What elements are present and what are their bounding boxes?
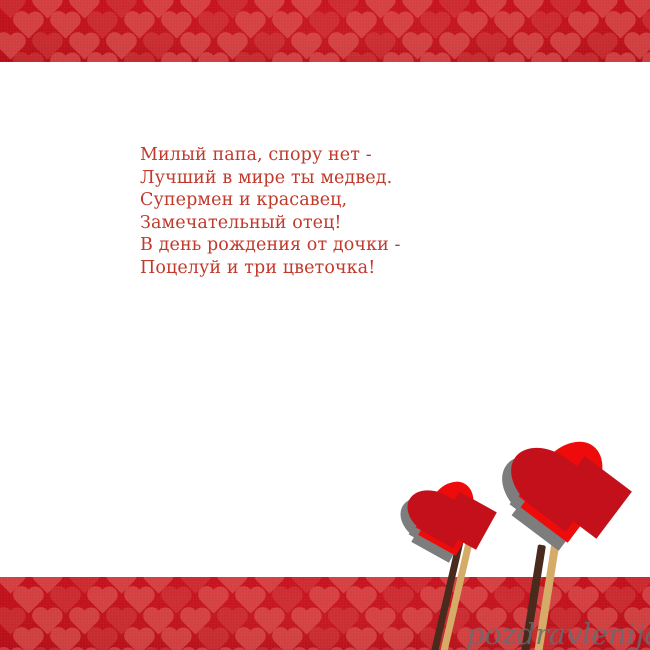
greeting-card: Милый папа, спору нет - Лучший в мире ты… [0,0,650,650]
site-watermark: pozdravlenija.eu [466,617,650,650]
halftone-texture [0,0,650,62]
poem-text: Милый папа, спору нет - Лучший в мире ты… [140,144,440,279]
heart-shape [495,439,628,572]
top-hearts-banner [0,0,650,62]
